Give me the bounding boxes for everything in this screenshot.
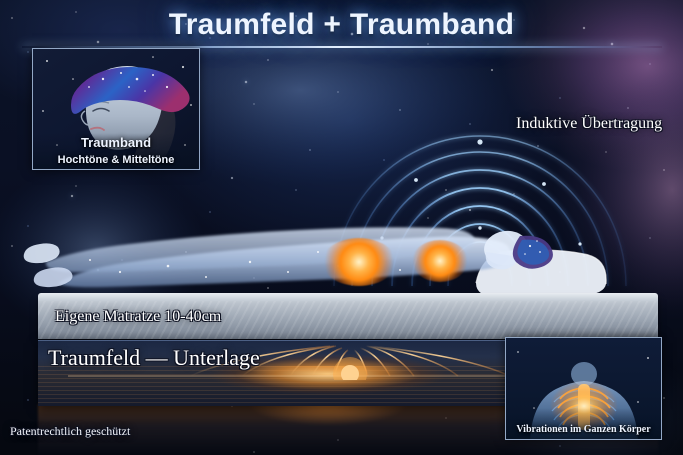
title-block: Traumfeld + Traumband <box>0 8 683 48</box>
traumband-caption-title: Traumband <box>33 135 199 150</box>
page-title: Traumfeld + Traumband <box>0 8 683 42</box>
core-energy-glow-secondary <box>412 240 468 282</box>
inset-card-traumband[interactable]: Traumband Hochtöne & Mitteltöne <box>32 48 200 170</box>
label-traumfeld-underlay: Traumfeld — Unterlage <box>48 345 260 371</box>
core-energy-glow-primary <box>322 238 396 286</box>
poster-scene: Traumfeld + Traumband <box>0 0 683 455</box>
vibration-caption: Vibrationen im Ganzen Körper <box>506 424 661 435</box>
label-patent-notice: Patentrechtlich geschützt <box>10 424 130 439</box>
label-own-mattress: Eigene Matratze 10-40cm <box>55 308 221 326</box>
mattress-top-edge <box>38 293 658 301</box>
label-inductive-transmission: Induktive Übertragung <box>516 115 662 133</box>
traumband-illustration <box>33 49 200 170</box>
traumband-caption-subtitle: Hochtöne & Mitteltöne <box>33 154 199 166</box>
inset-card-vibration[interactable]: Vibrationen im Ganzen Körper <box>505 337 662 440</box>
